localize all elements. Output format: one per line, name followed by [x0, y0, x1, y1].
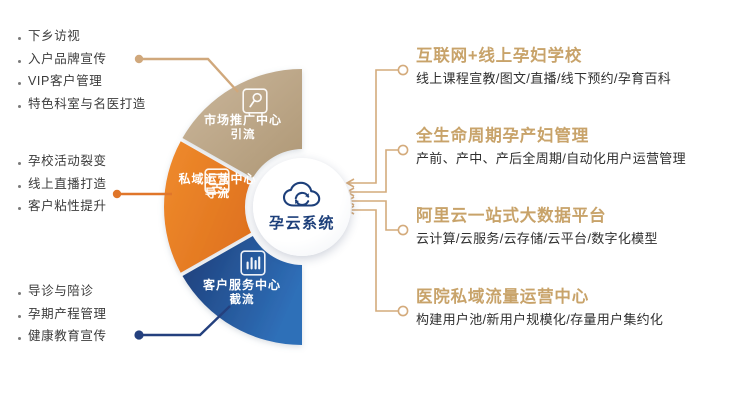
bullet-text: 客户粘性提升	[28, 200, 107, 213]
right-item-subtext: 产前、产中、产后全周期/自动化用户运营管理	[416, 152, 750, 166]
bullet-group-private: 孕校活动裂变 线上直播打造 客户粘性提升	[18, 155, 107, 223]
right-item-3[interactable]: 阿里云一站式大数据平台 云计算/云服务/云存储/云平台/数字化模型	[416, 207, 750, 246]
bullet-text: 导诊与陪诊	[28, 285, 94, 298]
right-item-4[interactable]: 医院私域流量运营中心 构建用户池/新用户规模化/存量用户集约化	[416, 288, 750, 327]
right-item-heading: 阿里云一站式大数据平台	[416, 207, 750, 225]
right-item-heading: 全生命周期孕产妇管理	[416, 127, 750, 145]
connector-right-4	[348, 210, 398, 311]
right-item-subtext: 线上课程宣教/图文/直播/线下预约/孕育百科	[416, 72, 750, 86]
bullet-dot-icon	[18, 82, 21, 85]
bullet-dot-icon	[18, 337, 21, 340]
bullet-text: 线上直播打造	[28, 178, 107, 191]
list-item: 孕期产程管理	[18, 308, 107, 321]
list-item: 导诊与陪诊	[18, 285, 107, 298]
bullet-dot-icon	[18, 37, 21, 40]
cloud-icon	[281, 181, 323, 211]
bullet-text: 特色科室与名医打造	[28, 98, 146, 111]
core-circle[interactable]: 孕云系统	[253, 158, 351, 256]
search-icon	[242, 88, 268, 114]
connector-right-2	[348, 150, 398, 192]
connector-right-1	[348, 70, 398, 183]
bullet-dot-icon	[18, 207, 21, 210]
bullet-text: 孕期产程管理	[28, 308, 107, 321]
endpoint-circle-4	[398, 306, 407, 315]
list-item: 线上直播打造	[18, 178, 107, 191]
endpoint-circle-2	[398, 145, 407, 154]
core-title: 孕云系统	[269, 212, 335, 233]
endpoint-circle-3	[398, 225, 407, 234]
right-item-2[interactable]: 全生命周期孕产妇管理 产前、产中、产后全周期/自动化用户运营管理	[416, 127, 750, 166]
bullet-text: VIP客户管理	[28, 75, 102, 88]
bullet-text: 孕校活动裂变	[28, 155, 107, 168]
list-item: 客户粘性提升	[18, 200, 107, 213]
list-item: VIP客户管理	[18, 75, 146, 88]
bullet-dot-icon	[18, 292, 21, 295]
right-item-subtext: 构建用户池/新用户规模化/存量用户集约化	[416, 313, 750, 327]
bullet-text: 下乡访视	[28, 30, 80, 43]
bullet-text: 入户品牌宣传	[28, 53, 107, 66]
connector-right-3	[348, 201, 398, 230]
monitor-icon	[204, 168, 230, 194]
connector-dot-service	[134, 330, 143, 339]
right-connectors	[347, 65, 408, 315]
right-item-heading: 医院私域流量运营中心	[416, 288, 750, 306]
bar-chart-icon	[240, 250, 266, 276]
bullet-text: 健康教育宣传	[28, 330, 107, 343]
bullet-dot-icon	[18, 162, 21, 165]
bullet-group-service: 导诊与陪诊 孕期产程管理 健康教育宣传	[18, 285, 107, 353]
right-item-1[interactable]: 互联网+线上孕妇学校 线上课程宣教/图文/直播/线下预约/孕育百科	[416, 47, 750, 86]
bullet-group-market: 下乡访视 入户品牌宣传 VIP客户管理 特色科室与名医打造	[18, 30, 146, 120]
endpoint-circle-1	[398, 65, 407, 74]
list-item: 孕校活动裂变	[18, 155, 107, 168]
infographic-canvas: 下乡访视 入户品牌宣传 VIP客户管理 特色科室与名医打造 孕校活动裂变 线上直…	[0, 0, 750, 404]
list-item: 特色科室与名医打造	[18, 98, 146, 111]
bullet-dot-icon	[18, 315, 21, 318]
bullet-dot-icon	[18, 185, 21, 188]
right-item-heading: 互联网+线上孕妇学校	[416, 47, 750, 65]
bullet-dot-icon	[18, 60, 21, 63]
right-item-subtext: 云计算/云服务/云存储/云平台/数字化模型	[416, 232, 750, 246]
connector-dot-private	[113, 190, 121, 198]
list-item: 入户品牌宣传	[18, 53, 146, 66]
list-item: 下乡访视	[18, 30, 146, 43]
list-item: 健康教育宣传	[18, 330, 107, 343]
connector-line-market	[140, 59, 238, 92]
bullet-dot-icon	[18, 105, 21, 108]
